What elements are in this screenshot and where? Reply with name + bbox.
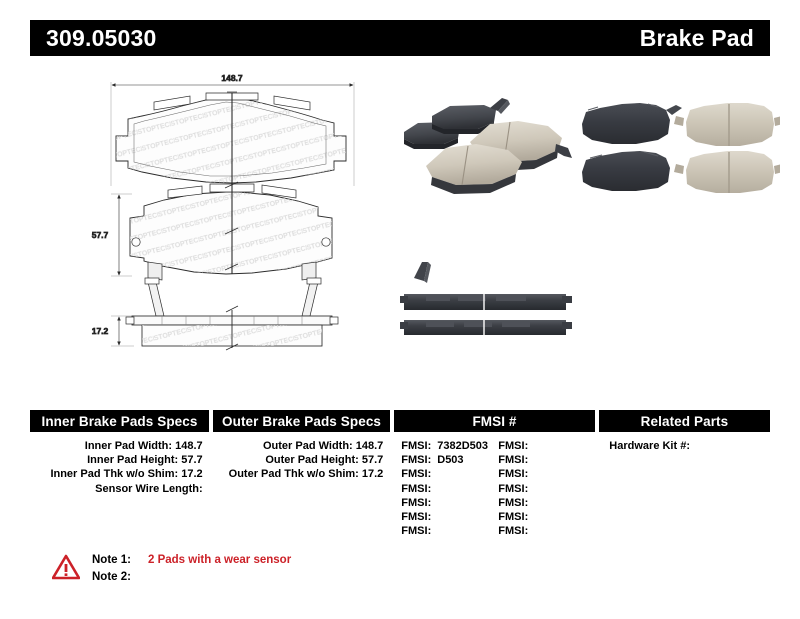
fmsi-row: FMSI: [498,467,595,481]
fmsi-value [528,440,534,452]
notes-section: Note 1: 2 Pads with a wear sensor Note 2… [52,552,291,586]
fmsi-row: FMSI: [401,524,498,538]
note-row-1: Note 1: 2 Pads with a wear sensor [92,552,291,569]
brake-pads-angled-photo [398,94,578,196]
fmsi-value: D503 [431,454,463,466]
fmsi-value [431,511,437,523]
spec-row: Outer Pad Thk w/o Shim: 17.2 [213,467,390,481]
fmsi-value [431,497,437,509]
fmsi-row: FMSI: [498,453,595,467]
fmsi-label: FMSI: [401,511,431,523]
table-body: Inner Pad Width: 148.7 Inner Pad Height:… [30,439,770,538]
fmsi-subcolumn-left: FMSI:7382D503 FMSI:D503 FMSI: FMSI: FMSI… [401,439,498,538]
fmsi-row: FMSI: [498,482,595,496]
fmsi-label: FMSI: [498,468,528,480]
spec-row: Inner Pad Thk w/o Shim: 17.2 [30,467,209,481]
table-header-row: Inner Brake Pads Specs Outer Brake Pads … [30,410,770,432]
fmsi-label: FMSI: [498,525,528,537]
fmsi-label: FMSI: [401,440,431,452]
related-parts-column: Hardware Kit #: [599,439,770,538]
fmsi-row: FMSI: [401,496,498,510]
brake-pads-flat-photo [578,98,780,194]
column-header-fmsi: FMSI # [394,410,595,432]
drawing-side-view: 17.2 [92,278,338,350]
fmsi-value: 7382D503 [431,440,488,452]
fmsi-value [528,483,534,495]
outer-specs-column: Outer Pad Width: 148.7 Outer Pad Height:… [213,439,390,538]
drawing-front-view: 57.7 [92,182,332,280]
fmsi-value [528,497,534,509]
fmsi-value [528,525,534,537]
drawing-top-view: 148.7 [111,73,354,186]
fmsi-label: FMSI: [401,454,431,466]
brake-pads-edge-photo [396,252,582,344]
fmsi-label: FMSI: [401,497,431,509]
fmsi-value [528,468,534,480]
page-title: Brake Pad [640,27,754,50]
spec-row: Inner Pad Height: 57.7 [30,453,209,467]
fmsi-value [528,454,534,466]
spec-row: Outer Pad Height: 57.7 [213,453,390,467]
dim-width-label: 148.7 [221,73,243,83]
fmsi-label: FMSI: [498,497,528,509]
figure-area: STOPTECH 148.7 [0,62,800,392]
fmsi-row: FMSI: [401,467,498,481]
fmsi-row: FMSI: [498,496,595,510]
spec-row: Sensor Wire Length: [30,482,209,496]
fmsi-value [528,511,534,523]
fmsi-label: FMSI: [401,468,431,480]
column-header-outer-specs: Outer Brake Pads Specs [213,410,390,432]
fmsi-row: FMSI: [498,439,595,453]
column-header-inner-specs: Inner Brake Pads Specs [30,410,209,432]
fmsi-label: FMSI: [401,483,431,495]
fmsi-value [431,468,437,480]
fmsi-row: FMSI: [401,510,498,524]
fmsi-column: FMSI:7382D503 FMSI:D503 FMSI: FMSI: FMSI… [393,439,595,538]
column-header-related-parts: Related Parts [599,410,770,432]
related-parts-row: Hardware Kit #: [599,439,770,453]
fmsi-row: FMSI:D503 [401,453,498,467]
dim-height-label: 57.7 [92,230,109,240]
note-1-value: 2 Pads with a wear sensor [144,552,291,569]
fmsi-label: FMSI: [498,454,528,466]
notes-text-block: Note 1: 2 Pads with a wear sensor Note 2… [92,552,291,586]
note-row-2: Note 2: [92,569,291,586]
spec-row: Inner Pad Width: 148.7 [30,439,209,453]
inner-specs-column: Inner Pad Width: 148.7 Inner Pad Height:… [30,439,209,538]
dim-thickness-label: 17.2 [92,326,109,336]
fmsi-row: FMSI: [498,510,595,524]
fmsi-label: FMSI: [498,440,528,452]
part-number: 309.05030 [46,27,157,50]
fmsi-row: FMSI: [401,482,498,496]
fmsi-row: FMSI:7382D503 [401,439,498,453]
spec-table: Inner Brake Pads Specs Outer Brake Pads … [30,410,770,538]
fmsi-value [431,483,437,495]
note-2-value [144,569,148,586]
fmsi-label: FMSI: [498,483,528,495]
spec-row: Outer Pad Width: 148.7 [213,439,390,453]
technical-drawing: STOPTECH 148.7 [86,66,376,366]
fmsi-value [431,525,437,537]
fmsi-row: FMSI: [498,524,595,538]
fmsi-label: FMSI: [498,511,528,523]
fmsi-label: FMSI: [401,525,431,537]
fmsi-subcolumn-right: FMSI: FMSI: FMSI: FMSI: FMSI: FMSI: FMSI… [498,439,595,538]
note-1-label: Note 1: [92,552,144,569]
note-2-label: Note 2: [92,569,144,586]
header-bar: 309.05030 Brake Pad [30,20,770,56]
warning-triangle-icon [52,554,80,580]
